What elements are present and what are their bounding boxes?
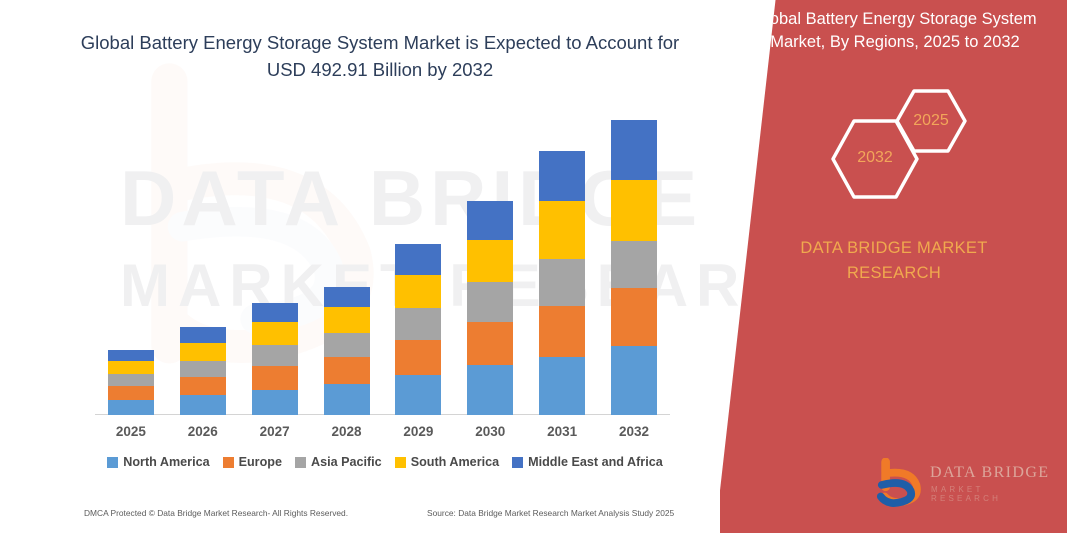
x-axis-label-2025: 2025: [101, 424, 161, 439]
x-axis-label-2031: 2031: [532, 424, 592, 439]
bar-segment-asia-pacific-2026[interactable]: [180, 361, 226, 377]
bar-segment-asia-pacific-2029[interactable]: [395, 308, 441, 340]
bar-2031[interactable]: [539, 151, 585, 415]
bar-segment-middle-east-and-africa-2026[interactable]: [180, 327, 226, 343]
bar-2029[interactable]: [395, 244, 441, 415]
bar-segment-south-america-2025[interactable]: [108, 361, 154, 374]
plot-area: [95, 120, 670, 415]
bar-2028[interactable]: [324, 287, 370, 415]
bar-segment-south-america-2032[interactable]: [611, 180, 657, 240]
bar-segment-south-america-2031[interactable]: [539, 201, 585, 258]
bar-segment-north-america-2030[interactable]: [467, 365, 513, 415]
bar-segment-asia-pacific-2032[interactable]: [611, 241, 657, 289]
x-axis-labels: 20252026202720282029203020312032: [95, 424, 670, 444]
bar-2030[interactable]: [467, 201, 513, 415]
legend-label-asia-pacific: Asia Pacific: [311, 455, 382, 469]
legend-item-asia-pacific[interactable]: Asia Pacific: [295, 455, 382, 469]
bar-segment-middle-east-and-africa-2032[interactable]: [611, 120, 657, 180]
bar-segment-europe-2028[interactable]: [324, 357, 370, 384]
bar-segment-asia-pacific-2027[interactable]: [252, 345, 298, 366]
legend-swatch-asia-pacific: [295, 457, 306, 468]
bar-segment-north-america-2032[interactable]: [611, 346, 657, 415]
bar-segment-north-america-2027[interactable]: [252, 390, 298, 415]
legend-item-europe[interactable]: Europe: [223, 455, 282, 469]
legend-label-europe: Europe: [239, 455, 282, 469]
x-axis-label-2026: 2026: [173, 424, 233, 439]
chart-legend: North AmericaEuropeAsia PacificSouth Ame…: [95, 455, 675, 469]
legend-label-south-america: South America: [411, 455, 499, 469]
x-axis-label-2032: 2032: [604, 424, 664, 439]
bar-segment-europe-2030[interactable]: [467, 322, 513, 365]
bar-segment-middle-east-and-africa-2031[interactable]: [539, 151, 585, 202]
bar-segment-south-america-2028[interactable]: [324, 307, 370, 332]
x-axis-label-2030: 2030: [460, 424, 520, 439]
chart-panel: DATA BRIDGE MARKET RESEARCH Global Batte…: [0, 0, 760, 533]
legend-swatch-middle-east-and-africa: [512, 457, 523, 468]
company-logo: DATA BRIDGE MARKET RESEARCH: [876, 458, 1056, 510]
info-panel: Global Battery Energy Storage System Mar…: [720, 0, 1067, 533]
bar-segment-south-america-2029[interactable]: [395, 275, 441, 308]
bar-segment-middle-east-and-africa-2030[interactable]: [467, 201, 513, 239]
bar-segment-middle-east-and-africa-2027[interactable]: [252, 303, 298, 322]
x-axis-label-2027: 2027: [245, 424, 305, 439]
bar-2032[interactable]: [611, 120, 657, 415]
bar-segment-north-america-2029[interactable]: [395, 375, 441, 415]
info-panel-title: Global Battery Energy Storage System Mar…: [736, 8, 1054, 54]
bar-segment-middle-east-and-africa-2029[interactable]: [395, 244, 441, 276]
legend-swatch-north-america: [107, 457, 118, 468]
legend-label-middle-east-and-africa: Middle East and Africa: [528, 455, 663, 469]
bar-segment-south-america-2030[interactable]: [467, 240, 513, 282]
x-axis-label-2029: 2029: [388, 424, 448, 439]
bar-segment-asia-pacific-2031[interactable]: [539, 259, 585, 307]
bar-segment-middle-east-and-africa-2028[interactable]: [324, 287, 370, 307]
data-bridge-b-icon: [876, 458, 926, 508]
bar-segment-south-america-2026[interactable]: [180, 343, 226, 361]
bar-segment-south-america-2027[interactable]: [252, 322, 298, 345]
footer-source: Source: Data Bridge Market Research Mark…: [427, 508, 674, 518]
bar-segment-north-america-2031[interactable]: [539, 357, 585, 415]
legend-item-north-america[interactable]: North America: [107, 455, 209, 469]
bar-segment-europe-2026[interactable]: [180, 377, 226, 395]
bar-segment-north-america-2025[interactable]: [108, 400, 154, 415]
page-title: Global Battery Energy Storage System Mar…: [70, 30, 690, 84]
legend-item-south-america[interactable]: South America: [395, 455, 499, 469]
bar-segment-asia-pacific-2030[interactable]: [467, 282, 513, 322]
hexagon-label-2032: 2032: [845, 149, 905, 167]
footer-copyright: DMCA Protected © Data Bridge Market Rese…: [84, 508, 348, 518]
logo-title: DATA BRIDGE: [930, 464, 1049, 482]
hexagon-label-2025: 2025: [901, 112, 961, 130]
bar-segment-north-america-2026[interactable]: [180, 395, 226, 415]
brand-line-2: RESEARCH: [744, 261, 1044, 286]
legend-swatch-europe: [223, 457, 234, 468]
bar-segment-middle-east-and-africa-2025[interactable]: [108, 350, 154, 362]
hexagon-badges: 2025 2032: [818, 85, 998, 205]
hexagon-outlines-icon: [818, 85, 998, 205]
bar-2027[interactable]: [252, 303, 298, 415]
bar-segment-north-america-2028[interactable]: [324, 384, 370, 415]
brand-line-1: DATA BRIDGE MARKET: [744, 236, 1044, 261]
logo-subtitle: MARKET RESEARCH: [931, 485, 1056, 503]
bar-segment-europe-2027[interactable]: [252, 366, 298, 389]
brand-name: DATA BRIDGE MARKET RESEARCH: [744, 236, 1044, 286]
legend-swatch-south-america: [395, 457, 406, 468]
bar-segment-asia-pacific-2028[interactable]: [324, 333, 370, 357]
x-axis-label-2028: 2028: [317, 424, 377, 439]
bar-2025[interactable]: [108, 349, 154, 415]
legend-label-north-america: North America: [123, 455, 209, 469]
legend-item-middle-east-and-africa[interactable]: Middle East and Africa: [512, 455, 663, 469]
bar-2026[interactable]: [180, 327, 226, 415]
bar-segment-europe-2032[interactable]: [611, 288, 657, 346]
bar-segment-asia-pacific-2025[interactable]: [108, 374, 154, 387]
bar-segment-europe-2025[interactable]: [108, 386, 154, 400]
bar-segment-europe-2031[interactable]: [539, 306, 585, 357]
bar-segment-europe-2029[interactable]: [395, 340, 441, 375]
